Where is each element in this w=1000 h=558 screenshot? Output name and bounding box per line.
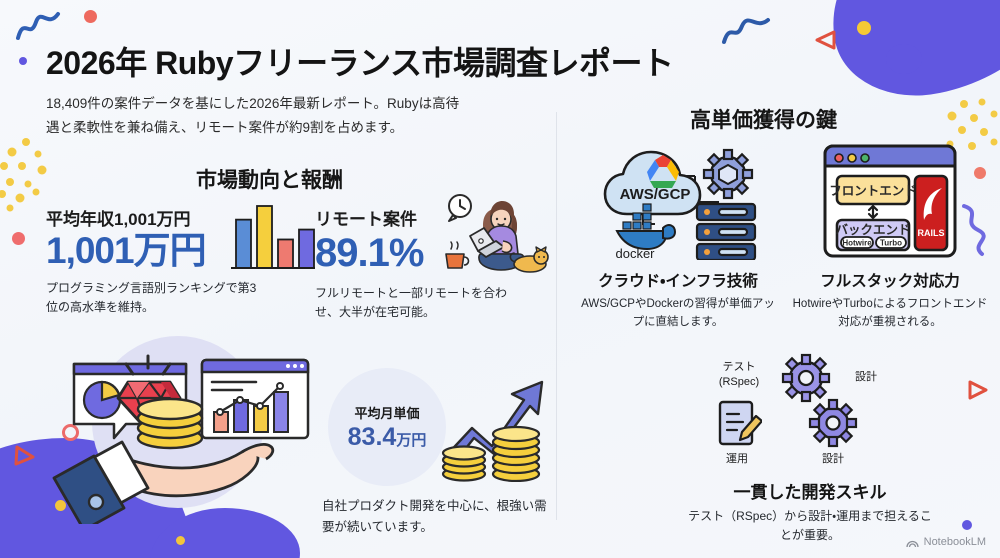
decorative-dot-coral-1 bbox=[84, 10, 97, 23]
bar-chart-card bbox=[202, 360, 308, 438]
server-rack-icon bbox=[697, 204, 755, 260]
card-fullstack-title: フルスタック対応力 bbox=[790, 269, 990, 291]
card-cloud-infra: AWS/GCP bbox=[578, 142, 778, 332]
watermark: NotebookLM bbox=[906, 536, 986, 548]
rate-number: 83.4 bbox=[348, 423, 397, 451]
cloud-icon: AWS/GCP bbox=[605, 152, 700, 214]
notebooklm-icon bbox=[906, 537, 919, 548]
gear-icon bbox=[704, 150, 752, 198]
decorative-triangle-right bbox=[966, 378, 990, 402]
tag-turbo: Turbo bbox=[880, 239, 902, 248]
gear-icon-test bbox=[778, 352, 834, 404]
stat-salary-caption: プログラミング言語別ランキングで第3位の高水準を維持。 bbox=[46, 279, 261, 317]
decorative-squiggle-top-center bbox=[720, 8, 780, 48]
tag-hotwire: Hotwire bbox=[842, 239, 872, 248]
rate-unit: 万円 bbox=[396, 432, 426, 449]
decorative-dot-coral-2 bbox=[12, 232, 25, 245]
coin-stack-icon bbox=[138, 399, 202, 448]
salary-ranking-bar-chart bbox=[228, 196, 318, 274]
card-fullstack-caption: HotwireやTurboによるフロントエンド対応が重視される。 bbox=[790, 295, 990, 332]
stat-remote-caption: フルリモートと一部リモートを合わせ、大半が在宅可能。 bbox=[315, 284, 530, 322]
rate-label: 平均月単価 bbox=[354, 403, 419, 422]
cloud-infra-illustration: AWS/GCP bbox=[593, 142, 763, 260]
card-dev-skill: テスト(RSpec) 設計 運用 bbox=[660, 352, 960, 545]
docker-label: docker bbox=[615, 246, 655, 260]
page-title: 2026年 Rubyフリーランス市場調査レポート bbox=[46, 38, 673, 84]
decorative-dot-purple-1 bbox=[19, 57, 27, 65]
card-fullstack: フロントエンド バックエンド Hotwire Turbo RAILS フルスタッ… bbox=[790, 142, 990, 332]
rate-value: 83.4万円 bbox=[348, 423, 427, 452]
earnings-illustration bbox=[30, 326, 320, 524]
card-cloud-title: クラウド・インフラ技術 bbox=[578, 269, 778, 291]
cloud-label: AWS/GCP bbox=[620, 186, 691, 203]
card-skill-caption: テスト（RSpec）から設計・運用まで担えることが重要。 bbox=[685, 507, 935, 545]
backend-label: バックエンド bbox=[835, 223, 910, 237]
rate-caption: 自社プロダクト開発を中心に、根強い需要が続いています。 bbox=[322, 496, 554, 537]
decorative-blob-top-right-small bbox=[886, 44, 922, 74]
rate-circle: 平均月単価 83.4万円 bbox=[328, 368, 446, 486]
frontend-label: フロントエンド bbox=[829, 184, 917, 198]
bar-1 bbox=[236, 220, 251, 268]
skill-label-design-bottom: 設計 bbox=[810, 452, 856, 467]
bar-4 bbox=[299, 230, 314, 268]
card-skill-title: 一貫した開発スキル bbox=[660, 478, 960, 503]
page-subtitle: 18,409件の案件データを基にした2026年最新レポート。Rubyは高待遇と柔… bbox=[46, 92, 466, 139]
growth-arrow-coins-illustration bbox=[438, 370, 556, 482]
section-title-market: 市場動向と報酬 bbox=[196, 164, 343, 194]
document-edit-icon bbox=[712, 398, 762, 452]
watermark-label: NotebookLM bbox=[924, 536, 986, 548]
bar-2 bbox=[257, 206, 272, 268]
section-title-keys: 高単価獲得の鍵 bbox=[690, 104, 837, 134]
card-cloud-caption: AWS/GCPやDockerの習得が単価アップに直結します。 bbox=[578, 295, 778, 332]
gear-icon-design bbox=[808, 398, 858, 448]
decorative-dot-purple-2 bbox=[962, 520, 972, 530]
clock-icon bbox=[449, 195, 471, 221]
fullstack-browser-illustration: フロントエンド バックエンド Hotwire Turbo RAILS bbox=[819, 142, 961, 260]
skill-label-design-top: 設計 bbox=[846, 370, 886, 385]
skill-label-test: テスト(RSpec) bbox=[704, 360, 774, 390]
rails-label: RAILS bbox=[918, 228, 945, 238]
column-divider bbox=[556, 112, 557, 520]
infographic-canvas: 2026年 Rubyフリーランス市場調査レポート 18,409件の案件データを基… bbox=[0, 0, 1000, 558]
bar-3 bbox=[278, 239, 293, 268]
decorative-dot-cluster-left bbox=[0, 136, 60, 212]
remote-work-illustration bbox=[440, 192, 550, 280]
skill-label-ops: 運用 bbox=[712, 452, 762, 467]
coffee-cup-icon bbox=[446, 242, 469, 268]
coin-stack-tall bbox=[493, 427, 539, 481]
skill-icon-grid: テスト(RSpec) 設計 運用 bbox=[660, 352, 960, 472]
coin-stack-small bbox=[443, 447, 485, 481]
